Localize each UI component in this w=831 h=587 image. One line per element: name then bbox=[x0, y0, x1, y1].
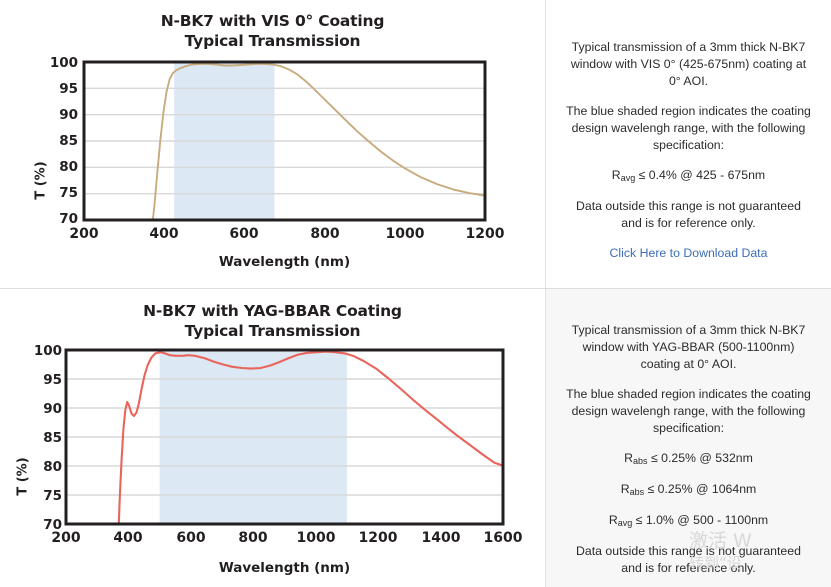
description-vis: Typical transmission of a 3mm thick N-BK… bbox=[546, 0, 831, 262]
spec-list-yag: Rabs ≤ 0.25% @ 532nm Rabs ≤ 0.25% @ 1064… bbox=[566, 450, 811, 530]
spec-subscript: abs bbox=[633, 456, 648, 466]
spec-subscript: avg bbox=[618, 518, 633, 528]
x-tick-yag-800: 800 bbox=[223, 530, 283, 546]
spec-subscript: avg bbox=[621, 173, 636, 183]
spec-item-yag-1: Rabs ≤ 0.25% @ 532nm bbox=[566, 450, 811, 468]
spec-item-yag-3: Ravg ≤ 1.0% @ 500 - 1100nm bbox=[566, 512, 811, 530]
description-yag: Typical transmission of a 3mm thick N-BK… bbox=[546, 289, 831, 587]
plot-svg-vis bbox=[0, 51, 545, 281]
spec-symbol: R bbox=[621, 482, 630, 496]
spec-symbol: R bbox=[612, 168, 621, 182]
text-panel-vis: Typical transmission of a 3mm thick N-BK… bbox=[546, 0, 831, 288]
x-tick-yag-200: 200 bbox=[36, 530, 96, 546]
spec-list-vis: Ravg ≤ 0.4% @ 425 - 675nm bbox=[566, 167, 811, 185]
spec-value: ≤ 1.0% @ 500 - 1100nm bbox=[636, 513, 768, 527]
desc-yag-p1: Typical transmission of a 3mm thick N-BK… bbox=[566, 322, 811, 373]
chart-title-yag-line1: N-BK7 with YAG-BBAR Coating bbox=[143, 302, 402, 320]
x-tick-yag-400: 400 bbox=[98, 530, 158, 546]
spec-symbol: R bbox=[624, 451, 633, 465]
x-axis-label-vis: Wavelength (nm) bbox=[84, 254, 485, 270]
spec-item-vis-1: Ravg ≤ 0.4% @ 425 - 675nm bbox=[566, 167, 811, 185]
x-tick-yag-600: 600 bbox=[161, 530, 221, 546]
chart-panel-yag: N-BK7 with YAG-BBAR Coating Typical Tran… bbox=[0, 289, 545, 587]
panel-vis-coating: N-BK7 with VIS 0° Coating Typical Transm… bbox=[0, 0, 831, 288]
x-tick-vis-1000: 1000 bbox=[375, 226, 435, 242]
spec-item-yag-2: Rabs ≤ 0.25% @ 1064nm bbox=[566, 481, 811, 499]
text-panel-yag: Typical transmission of a 3mm thick N-BK… bbox=[546, 289, 831, 587]
x-tick-yag-1000: 1000 bbox=[286, 530, 346, 546]
x-tick-vis-400: 400 bbox=[134, 226, 194, 242]
x-tick-vis-600: 600 bbox=[214, 226, 274, 242]
desc-yag-p3: Data outside this range is not guarantee… bbox=[566, 543, 811, 577]
x-tick-vis-200: 200 bbox=[54, 226, 114, 242]
desc-vis-p1: Typical transmission of a 3mm thick N-BK… bbox=[566, 39, 811, 90]
download-data-link-vis[interactable]: Click Here to Download Data bbox=[610, 245, 768, 262]
x-tick-vis-800: 800 bbox=[295, 226, 355, 242]
x-tick-yag-1600: 1600 bbox=[473, 530, 533, 546]
transmission-spec-page: N-BK7 with VIS 0° Coating Typical Transm… bbox=[0, 0, 831, 587]
spec-symbol: R bbox=[609, 513, 618, 527]
spec-subscript: abs bbox=[630, 487, 645, 497]
x-tick-vis-1200: 1200 bbox=[455, 226, 515, 242]
plot-svg-yag bbox=[0, 341, 545, 587]
chart-panel-vis: N-BK7 with VIS 0° Coating Typical Transm… bbox=[0, 0, 545, 288]
x-tick-yag-1200: 1200 bbox=[348, 530, 408, 546]
panel-yag-coating: N-BK7 with YAG-BBAR Coating Typical Tran… bbox=[0, 289, 831, 587]
x-axis-label-yag: Wavelength (nm) bbox=[66, 560, 503, 576]
chart-title-yag-line2: Typical Transmission bbox=[0, 321, 545, 341]
desc-vis-p3: Data outside this range is not guarantee… bbox=[566, 198, 811, 232]
chart-title-vis-line2: Typical Transmission bbox=[0, 31, 545, 51]
spec-value: ≤ 0.25% @ 1064nm bbox=[648, 482, 757, 496]
spec-value: ≤ 0.25% @ 532nm bbox=[651, 451, 753, 465]
x-tick-yag-1400: 1400 bbox=[411, 530, 471, 546]
chart-title-vis-line1: N-BK7 with VIS 0° Coating bbox=[161, 12, 384, 30]
spec-value: ≤ 0.4% @ 425 - 675nm bbox=[639, 168, 766, 182]
chart-title-yag: N-BK7 with YAG-BBAR Coating Typical Tran… bbox=[0, 301, 545, 341]
desc-vis-p2: The blue shaded region indicates the coa… bbox=[566, 103, 811, 154]
desc-yag-p2: The blue shaded region indicates the coa… bbox=[566, 386, 811, 437]
chart-title-vis: N-BK7 with VIS 0° Coating Typical Transm… bbox=[0, 11, 545, 51]
